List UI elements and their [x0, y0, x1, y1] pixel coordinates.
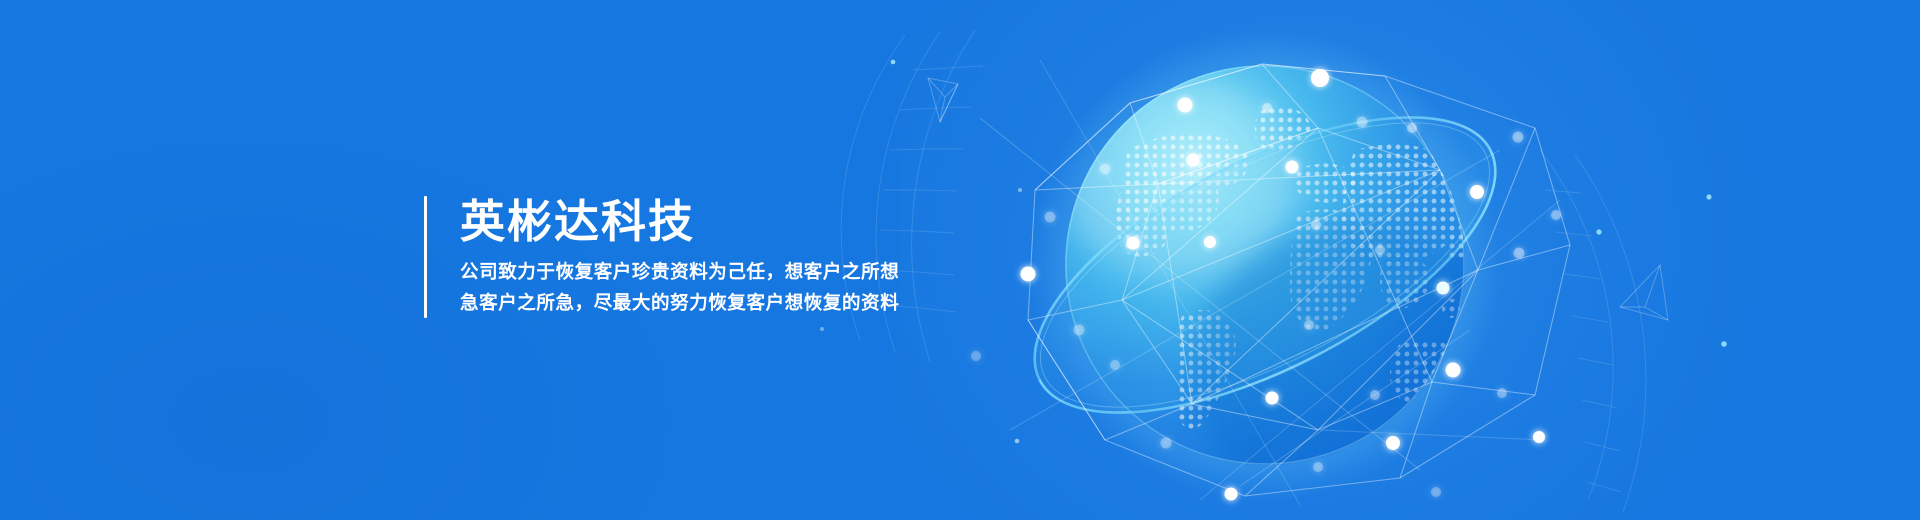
hero-banner: 英彬达科技 公司致力于恢复客户珍贵资料为己任，想客户之所想 急客户之所急，尽最大… [0, 0, 1920, 520]
orbit-ring-icon [992, 57, 1537, 472]
hero-text-column: 英彬达科技 公司致力于恢复客户珍贵资料为己任，想客户之所想 急客户之所急，尽最大… [460, 196, 899, 318]
wireframe-triangle-right-icon [1620, 265, 1668, 320]
page-title: 英彬达科技 [460, 198, 899, 247]
network-mesh [980, 60, 1570, 505]
wireframe-triangle-left-icon [928, 78, 958, 122]
orbit-ring-back-icon [1040, 150, 1538, 472]
accent-bar [424, 196, 427, 318]
globe-halo [1029, 29, 1501, 501]
network-nodes [971, 69, 1561, 501]
hero-text-block: 英彬达科技 公司致力于恢复客户珍贵资料为己任，想客户之所想 急客户之所急，尽最大… [424, 196, 899, 318]
globe-network-artwork [0, 0, 1920, 520]
globe-continents [1058, 76, 1528, 520]
hero-subtitle-line-1: 公司致力于恢复客户珍贵资料为己任，想客户之所想 [460, 256, 899, 287]
background-glow-left [0, 120, 700, 520]
grid-arc-right-icon [1540, 150, 1646, 512]
globe-network-icon [1058, 65, 1528, 520]
hero-subtitle-line-2: 急客户之所急，尽最大的努力恢复客户想恢复的资料 [460, 287, 899, 318]
background-glow [900, 0, 1800, 520]
sparkle-dots [820, 60, 1727, 444]
